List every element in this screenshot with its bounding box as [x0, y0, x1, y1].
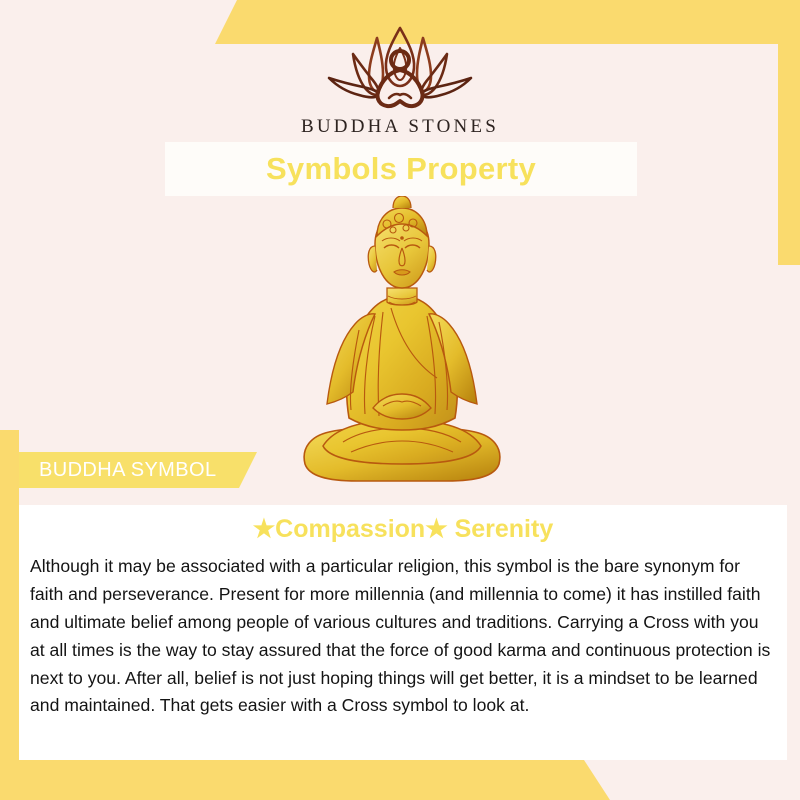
brand-name: BUDDHA STONES: [0, 116, 800, 138]
brand-logo: BUDDHA STONES: [0, 22, 800, 138]
page-title-band: Symbols Property: [165, 142, 637, 196]
decoration-left-yellow-band: [0, 430, 19, 800]
star-icon-2: ★: [425, 515, 447, 543]
poster-root: BUDDHA STONES Symbols Property: [0, 0, 800, 800]
lotus-meditation-icon: [305, 22, 495, 114]
seated-golden-buddha-icon: [287, 196, 517, 496]
buddha-statue-image: [287, 196, 517, 496]
content-subtitle: ★Compassion★ Serenity: [19, 505, 787, 544]
content-panel: ★Compassion★ Serenity Although it may be…: [19, 505, 787, 760]
section-ribbon: BUDDHA SYMBOL: [19, 452, 257, 488]
star-icon-1: ★: [253, 515, 275, 543]
subtitle-word-serenity: Serenity: [455, 515, 554, 543]
page-title: Symbols Property: [266, 151, 536, 187]
section-ribbon-label: BUDDHA SYMBOL: [19, 459, 216, 482]
content-paragraph: Although it may be associated with a par…: [19, 544, 787, 720]
subtitle-word-compassion: Compassion: [275, 515, 425, 543]
decoration-bottom-yellow-band: [0, 760, 610, 800]
